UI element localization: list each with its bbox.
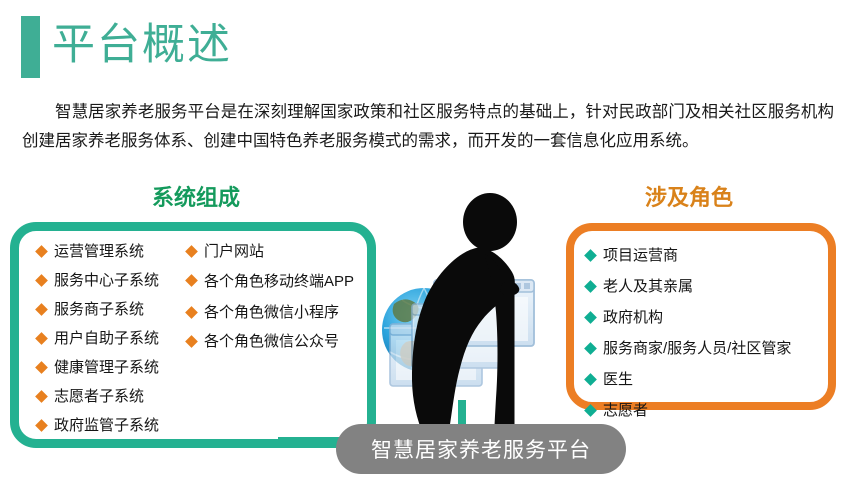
system-composition-column-b: 门户网站 各个角色移动终端APP 各个角色微信小程序 各个角色微信公众号 [187,241,367,360]
diamond-bullet-icon [35,419,48,432]
diamond-bullet-icon [584,249,597,262]
list-item: 服务商子系统 [37,299,197,320]
diamond-bullet-icon [35,245,48,258]
list-item-label: 各个角色微信小程序 [204,302,339,323]
diamond-bullet-icon [35,274,48,287]
right-section-heading: 涉及角色 [645,180,733,212]
list-item-label: 服务商子系统 [54,299,144,320]
roles-list: 项目运营商 老人及其亲属 政府机构 服务商家/服务人员/社区管家 医生 志愿者 [586,245,830,431]
diamond-bullet-icon [584,373,597,386]
list-item-label: 政府监管子系统 [54,415,159,436]
list-item-label: 各个角色移动终端APP [204,270,354,294]
diamond-bullet-icon [185,335,198,348]
list-item: 各个角色移动终端APP [187,270,367,294]
list-item-label: 志愿者子系统 [54,386,144,407]
list-item-label: 老人及其亲属 [603,276,693,297]
diamond-bullet-icon [584,280,597,293]
list-item: 用户自助子系统 [37,328,197,349]
list-item: 门户网站 [187,241,367,262]
left-section-heading: 系统组成 [152,180,240,212]
system-composition-column-a: 运营管理系统 服务中心子系统 服务商子系统 用户自助子系统 健康管理子系统 志愿… [37,241,197,444]
list-item-label: 政府机构 [603,307,663,328]
diamond-bullet-icon [584,342,597,355]
list-item: 各个角色微信公众号 [187,331,367,352]
list-item: 服务中心子系统 [37,270,197,291]
diamond-bullet-icon [35,303,48,316]
list-item: 项目运营商 [586,245,830,266]
list-item-label: 运营管理系统 [54,241,144,262]
list-item: 医生 [586,369,830,390]
list-item-label: 医生 [603,369,633,390]
diamond-bullet-icon [185,274,198,287]
diamond-bullet-icon [185,306,198,319]
title-accent-bar [21,16,40,78]
intro-paragraph: 智慧居家养老服务平台是在深刻理解国家政策和社区服务特点的基础上，针对民政部门及相… [22,98,834,156]
list-item-label: 服务商家/服务人员/社区管家 [603,338,791,359]
slide-canvas: 平台概述 智慧居家养老服务平台是在深刻理解国家政策和社区服务特点的基础上，针对民… [0,0,850,481]
list-item: 志愿者 [586,400,830,421]
roles-panel: 项目运营商 老人及其亲属 政府机构 服务商家/服务人员/社区管家 医生 志愿者 [566,223,836,410]
list-item-label: 门户网站 [204,241,264,262]
list-item: 运营管理系统 [37,241,197,262]
list-item: 政府监管子系统 [37,415,197,436]
list-item: 政府机构 [586,307,830,328]
list-item: 各个角色微信小程序 [187,302,367,323]
diamond-bullet-icon [35,361,48,374]
list-item-label: 服务中心子系统 [54,270,159,291]
system-composition-panel: 运营管理系统 服务中心子系统 服务商子系统 用户自助子系统 健康管理子系统 志愿… [10,222,376,448]
list-item-label: 志愿者 [603,400,648,421]
list-item: 老人及其亲属 [586,276,830,297]
diamond-bullet-icon [584,311,597,324]
diamond-bullet-icon [35,332,48,345]
diamond-bullet-icon [584,404,597,417]
list-item-label: 用户自助子系统 [54,328,159,349]
list-item: 服务商家/服务人员/社区管家 [586,338,830,359]
list-item-label: 健康管理子系统 [54,357,159,378]
elderly-person-illustration [372,192,572,450]
platform-name-label: 智慧居家养老服务平台 [371,434,591,464]
list-item: 志愿者子系统 [37,386,197,407]
list-item-label: 项目运营商 [603,245,678,266]
page-title: 平台概述 [52,14,232,76]
platform-name-pill: 智慧居家养老服务平台 [336,424,626,474]
list-item-label: 各个角色微信公众号 [204,331,339,352]
diamond-bullet-icon [35,390,48,403]
diamond-bullet-icon [185,245,198,258]
list-item: 健康管理子系统 [37,357,197,378]
